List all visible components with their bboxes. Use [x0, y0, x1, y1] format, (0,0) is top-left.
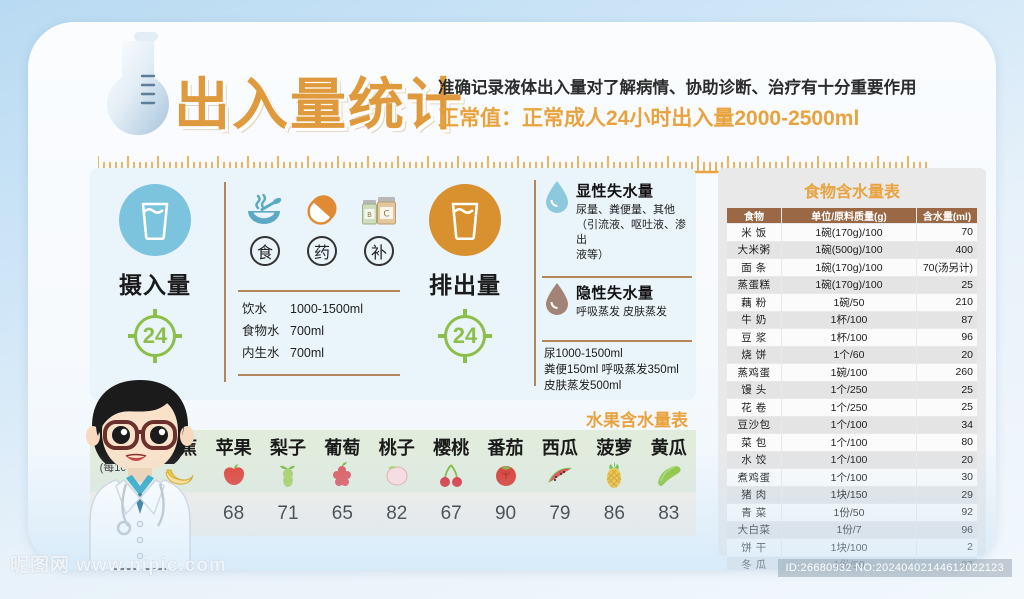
intake-24h-badge: 24 — [128, 309, 182, 363]
food-table-row: 蒸蛋糕1碗(170g)/10025 — [727, 277, 977, 294]
food-cell-water: 87 — [917, 312, 977, 329]
fruit-table-title: 水果含水量表 — [586, 406, 688, 431]
fruit-cell-peach: 桃子 — [370, 430, 424, 492]
food-cell-unit: 1份/50 — [782, 504, 916, 521]
bowl-soup-icon — [245, 193, 285, 227]
watermelon-icon — [533, 462, 587, 488]
food-cell-water: 96 — [917, 329, 977, 346]
intake-badge-number: 24 — [128, 309, 182, 363]
food-cell-water: 30 — [917, 469, 977, 486]
output-divider-2 — [542, 340, 692, 342]
food-col-header: 食物 — [727, 208, 781, 223]
pineapple-icon — [587, 462, 641, 488]
food-table-row: 米 饭1碗(170g)/10070 — [727, 224, 977, 241]
intake-icon-food-char: 食 — [250, 236, 280, 266]
cherry-icon — [424, 462, 478, 488]
intake-icon-supplement-char: 补 — [364, 236, 394, 266]
image-id-badge: ID:26680932 NO:20240402144612022123 — [778, 559, 1012, 577]
food-cell-name: 冬 瓜 — [727, 557, 781, 571]
tomato-icon — [478, 462, 532, 488]
food-cell-water: 210 — [917, 294, 977, 311]
fruit-cell-grapes: 葡萄 — [315, 430, 369, 492]
header: 出入量统计 准确记录液体出入量对了解病情、协助诊断、治疗有十分重要作用 正常值：… — [28, 22, 996, 132]
food-cell-name: 牛 奶 — [727, 312, 781, 329]
food-cell-name: 馒 头 — [727, 382, 781, 399]
blue-water-drop-icon — [544, 180, 570, 214]
food-cell-unit: 1杯/100 — [782, 329, 916, 346]
output-divider-1 — [542, 276, 692, 278]
food-table-row: 面 条1碗(170g)/10070(汤另计) — [727, 259, 977, 276]
fruit-value: 90 — [478, 492, 532, 536]
vitamin-bottles-icon: B C — [359, 193, 399, 227]
food-cell-name: 豆 浆 — [727, 329, 781, 346]
output-desc: 尿量、粪便量、其他 （引流液、呕吐液、渗出 液等） — [576, 203, 692, 263]
food-table-row: 青 菜1份/5092 — [727, 504, 977, 521]
food-cell-water: 25 — [917, 399, 977, 416]
food-cell-name: 猪 肉 — [727, 487, 781, 504]
food-cell-name: 水 饺 — [727, 452, 781, 469]
fruit-value: 79 — [533, 492, 587, 536]
infographic-card: 出入量统计 准确记录液体出入量对了解病情、协助诊断、治疗有十分重要作用 正常值：… — [28, 22, 996, 570]
output-24h-badge: 24 — [438, 309, 492, 363]
food-cell-unit: 1个/60 — [782, 347, 916, 364]
header-subtitle-1: 准确记录液体出入量对了解病情、协助诊断、治疗有十分重要作用 — [438, 74, 917, 98]
fruit-cell-tomato: 番茄 — [478, 430, 532, 492]
fruit-cell-pear: 梨子 — [261, 430, 315, 492]
svg-text:B: B — [367, 211, 372, 219]
intake-divider-bottom — [238, 374, 400, 376]
intake-icon-row: 食 药 — [242, 190, 402, 266]
intake-icon-medicine-char: 药 — [307, 236, 337, 266]
water-glass-icon — [138, 200, 172, 240]
header-subtitle-2: 正常值：正常成人24小时出入量2000-2500ml — [438, 102, 859, 132]
brown-water-drop-icon — [544, 282, 570, 316]
fruit-value: 67 — [424, 492, 478, 536]
output-circle-icon — [429, 184, 501, 256]
intake-icon-food: 食 — [242, 190, 288, 266]
food-col-header: 含水量(ml) — [917, 208, 977, 223]
food-cell-unit: 1碗(170g)/100 — [782, 224, 916, 241]
food-table-row: 猪 肉1块/15029 — [727, 487, 977, 504]
output-detail: 显性失水量 尿量、粪便量、其他 （引流液、呕吐液、渗出 液等） 隐性失水量 呼吸… — [534, 178, 692, 394]
intake-label: 摄入量 — [96, 266, 214, 300]
site-watermark: 昵图网 www.nipic.com — [10, 550, 227, 577]
fruit-value: 71 — [261, 492, 315, 536]
food-cell-water: 25 — [917, 382, 977, 399]
food-cell-unit: 1块/150 — [782, 487, 916, 504]
cucumber-icon — [642, 462, 696, 488]
output-item-visible-loss: 显性失水量 尿量、粪便量、其他 （引流液、呕吐液、渗出 液等） — [544, 180, 692, 263]
food-cell-name: 米 饭 — [727, 224, 781, 241]
food-cell-name: 青 菜 — [727, 504, 781, 521]
food-table-row: 大白菜1份/796 — [727, 522, 977, 539]
food-cell-water: 70(汤另计) — [917, 259, 977, 276]
food-cell-unit: 1碗(500g)/100 — [782, 242, 916, 259]
food-cell-unit: 1个/100 — [782, 434, 916, 451]
food-cell-unit: 1碗(170g)/100 — [782, 277, 916, 294]
food-cell-name: 藕 粉 — [727, 294, 781, 311]
food-cell-name: 大米粥 — [727, 242, 781, 259]
fruit-value: 86 — [587, 492, 641, 536]
fruit-value: 83 — [642, 492, 696, 536]
food-table-row: 水 饺1个/10020 — [727, 452, 977, 469]
fruit-cell-cherry: 樱桃 — [424, 430, 478, 492]
food-cell-name: 豆沙包 — [727, 417, 781, 434]
food-cell-water: 29 — [917, 487, 977, 504]
output-label: 排出量 — [406, 266, 524, 300]
food-cell-unit: 1碗/50 — [782, 294, 916, 311]
food-table-title: 食物含水量表 — [726, 174, 978, 207]
food-water-table: 食物含水量表 食物 单位/原料质量(g) 含水量(ml) 米 饭1碗(170g)… — [718, 168, 986, 556]
food-cell-name: 烧 饼 — [727, 347, 781, 364]
page-title: 出入量统计 — [174, 60, 464, 141]
output-summary: 尿1000-1500ml 粪便150ml 呼吸蒸发350ml 皮肤蒸发500ml — [544, 346, 679, 394]
food-cell-water: 70 — [917, 224, 977, 241]
food-cell-water: 20 — [917, 452, 977, 469]
output-block: 排出量 24 — [406, 168, 524, 363]
food-cell-water: 400 — [917, 242, 977, 259]
food-table-row: 藕 粉1碗/50210 — [727, 294, 977, 311]
pear-icon — [261, 462, 315, 488]
food-cell-water: 2 — [917, 539, 977, 556]
water-glass-icon — [448, 200, 482, 240]
food-cell-water: 20 — [917, 347, 977, 364]
food-cell-water: 25 — [917, 277, 977, 294]
food-cell-unit: 1个/100 — [782, 452, 916, 469]
food-cell-water: 34 — [917, 417, 977, 434]
intake-row: 内生水700ml — [242, 342, 363, 364]
food-table-row: 花 卷1个/25025 — [727, 399, 977, 416]
output-heading: 显性失水量 — [576, 180, 692, 201]
food-cell-unit: 1份/7 — [782, 522, 916, 539]
food-cell-unit: 1个/250 — [782, 399, 916, 416]
food-cell-name: 面 条 — [727, 259, 781, 276]
food-table-row: 饼 干1块/1002 — [727, 539, 977, 556]
food-cell-unit: 1杯/100 — [782, 312, 916, 329]
food-table-row: 大米粥1碗(500g)/100400 — [727, 242, 977, 259]
food-cell-unit: 1个/100 — [782, 469, 916, 486]
food-table-row: 菜 包1个/10080 — [727, 434, 977, 451]
svg-text:C: C — [383, 210, 389, 220]
fruit-value: 65 — [315, 492, 369, 536]
intake-icon-supplement: B C 补 — [356, 190, 402, 266]
food-cell-unit: 1个/100 — [782, 417, 916, 434]
food-cell-water: 96 — [917, 522, 977, 539]
fruit-cell-watermelon: 西瓜 — [533, 430, 587, 492]
food-table-header-row: 食物 单位/原料质量(g) 含水量(ml) — [727, 208, 977, 223]
grapes-icon — [315, 462, 369, 488]
food-cell-name: 菜 包 — [727, 434, 781, 451]
food-cell-name: 大白菜 — [727, 522, 781, 539]
fruit-value: 82 — [370, 492, 424, 536]
food-cell-water: 92 — [917, 504, 977, 521]
fruit-cell-pineapple: 菠萝 — [587, 430, 641, 492]
food-cell-unit: 1个/250 — [782, 382, 916, 399]
food-cell-unit: 1碗(170g)/100 — [782, 259, 916, 276]
capsule-pill-icon — [304, 193, 340, 227]
intake-rows: 饮水1000-1500ml 食物水700ml 内生水700ml — [242, 298, 363, 364]
food-cell-name: 蒸鸡蛋 — [727, 364, 781, 381]
food-table-row: 煮鸡蛋1个/10030 — [727, 469, 977, 486]
food-cell-name: 蒸蛋糕 — [727, 277, 781, 294]
intake-divider-top — [238, 290, 400, 292]
food-table-row: 烧 饼1个/6020 — [727, 347, 977, 364]
food-cell-name: 花 卷 — [727, 399, 781, 416]
fruit-cell-cucumber: 黄瓜 — [642, 430, 696, 492]
output-badge-number: 24 — [438, 309, 492, 363]
output-heading: 隐性失水量 — [576, 282, 667, 303]
intake-circle-icon — [119, 184, 191, 256]
food-cell-name: 饼 干 — [727, 539, 781, 556]
intake-row: 饮水1000-1500ml — [242, 298, 363, 320]
intake-icon-medicine: 药 — [299, 190, 345, 266]
intake-block: 摄入量 24 — [96, 168, 214, 363]
food-table-row: 馒 头1个/25025 — [727, 382, 977, 399]
food-cell-name: 煮鸡蛋 — [727, 469, 781, 486]
intake-output-panel: 摄入量 24 — [90, 168, 696, 400]
output-desc: 呼吸蒸发 皮肤蒸发 — [576, 305, 667, 320]
food-table-row: 豆沙包1个/10034 — [727, 417, 977, 434]
doctor-character-icon — [64, 374, 216, 570]
intake-detail: 食 药 — [224, 178, 396, 390]
food-col-header: 单位/原料质量(g) — [782, 208, 916, 223]
food-cell-water: 260 — [917, 364, 977, 381]
food-cell-unit: 1碗/100 — [782, 364, 916, 381]
intake-row: 食物水700ml — [242, 320, 363, 342]
output-item-invisible-loss: 隐性失水量 呼吸蒸发 皮肤蒸发 — [544, 282, 667, 321]
food-cell-water: 80 — [917, 434, 977, 451]
food-table-row: 蒸鸡蛋1碗/100260 — [727, 364, 977, 381]
food-cell-unit: 1块/100 — [782, 539, 916, 556]
peach-icon — [370, 462, 424, 488]
food-table-row: 豆 浆1杯/10096 — [727, 329, 977, 346]
food-table-row: 牛 奶1杯/10087 — [727, 312, 977, 329]
